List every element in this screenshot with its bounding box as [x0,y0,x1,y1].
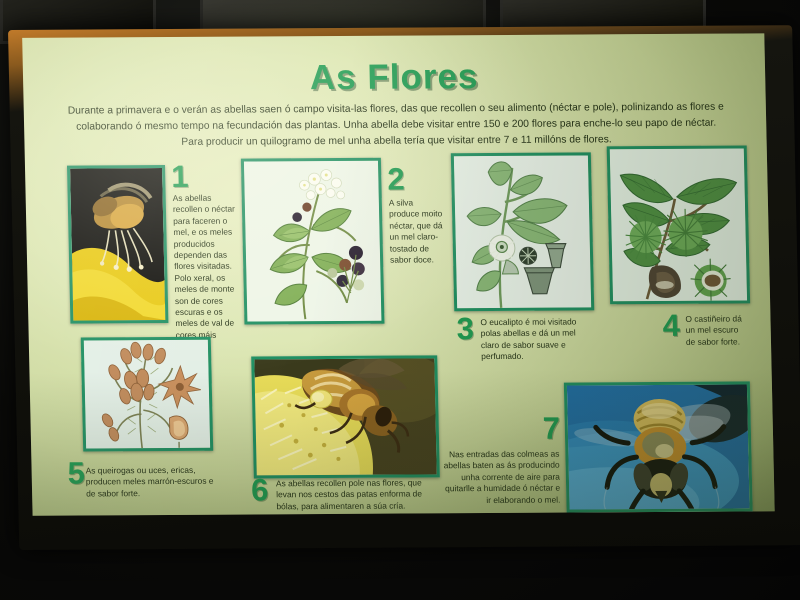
entry-number-2: 2 [387,164,405,195]
entry-caption-7: Nas entradas das colmeas as abellas bate… [441,449,560,507]
photo-bee-pollen-image [254,358,437,475]
illustration-eucalyptus [451,152,594,311]
photo-bee-fanning-image [567,384,750,509]
panel-surface: As Flores Durante a primavera e o verán … [22,33,775,515]
entry-number-3: 3 [456,313,474,344]
entry-number-6: 6 [251,474,269,505]
entry-caption-3: O eucalipto é moi visitado polas abellas… [480,316,591,362]
photo-bee-with-pollen-basket [251,355,440,478]
illustration-chestnut-image [610,148,747,301]
illustration-heather-queiroga [81,337,214,452]
photo-bee-on-yellow-flower [67,165,168,324]
entry-caption-2: A silva produce moito néctar, que dá un … [389,197,444,266]
illustration-blackberry-silva [241,158,385,325]
entry-number-1: 1 [171,161,189,192]
entry-caption-5: As queirogas ou uces, ericas, producen m… [86,465,215,500]
illustration-blackberry-image [244,161,382,322]
illustration-chestnut-castineiro [607,145,750,304]
illustration-eucalyptus-image [454,155,591,308]
intro-paragraph: Durante a primavera e o verán as abellas… [50,100,743,152]
interpretive-panel: As Flores Durante a primavera e o verán … [8,25,800,550]
photo-bee-on-yellow-flower-image [70,168,165,321]
photo-bee-fanning-wings [564,381,753,512]
page-title: As Flores [23,55,766,100]
entry-number-5: 5 [67,457,85,488]
entry-caption-4: O castiñeiro dá un mel escuro de sabor f… [685,313,748,348]
entry-caption-6: As abellas recollen pole nas flores, que… [276,477,437,512]
entry-caption-1: As abellas recollen o néctar para facere… [173,193,238,353]
entry-number-4: 4 [662,310,680,341]
entry-number-7: 7 [542,413,560,444]
illustration-heather-image [84,340,210,449]
